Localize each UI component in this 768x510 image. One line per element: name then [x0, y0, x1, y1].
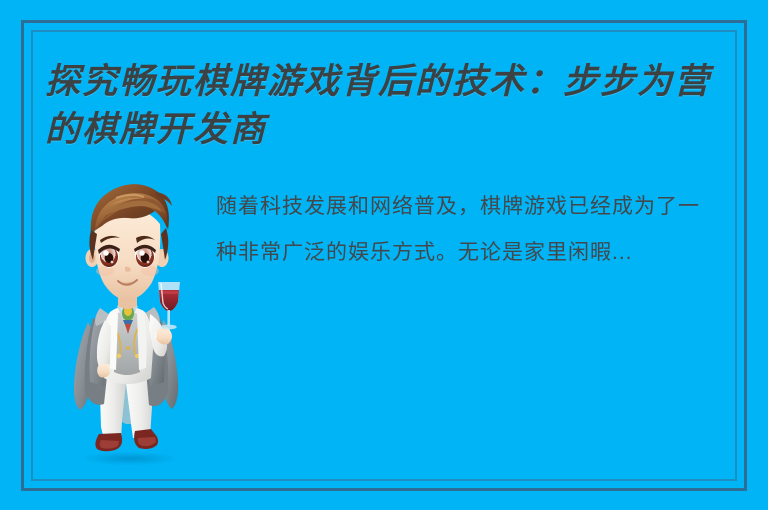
article-excerpt: 随着科技发展和网络普及，棋牌游戏已经成为了一种非常广泛的娱乐方式。无论是家里闲暇… — [216, 184, 716, 276]
article-title-block: 探究畅玩棋牌游戏背后的技术：步步为营的棋牌开发商 — [45, 58, 735, 154]
article-excerpt-block: 随着科技发展和网络普及，棋牌游戏已经成为了一种非常广泛的娱乐方式。无论是家里闲暇… — [216, 184, 716, 276]
chibi-character-illustration — [52, 172, 202, 472]
article-card-poster: 探究畅玩棋牌游戏背后的技术：步步为营的棋牌开发商 随着科技发展和网络普及，棋牌游… — [0, 0, 768, 510]
article-title: 探究畅玩棋牌游戏背后的技术：步步为营的棋牌开发商 — [45, 58, 735, 154]
